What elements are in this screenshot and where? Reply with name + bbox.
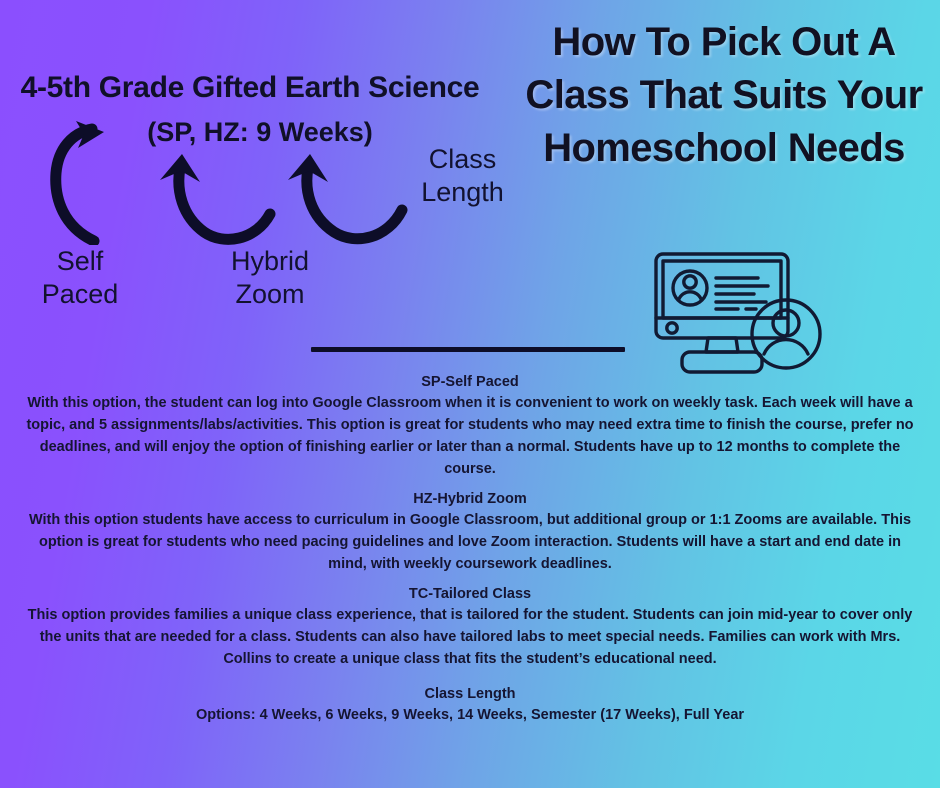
section-tailored-class: TC-Tailored Class This option provides f… xyxy=(0,586,940,670)
callout-hybrid-zoom: Hybrid Zoom xyxy=(200,245,340,311)
section-self-paced: SP-Self Paced With this option, the stud… xyxy=(0,374,940,480)
page-title: How To Pick Out A Class That Suits Your … xyxy=(520,16,928,176)
computer-user-icon xyxy=(650,248,830,380)
section-heading: Class Length xyxy=(0,686,940,702)
section-body: This option provides families a unique c… xyxy=(0,604,940,670)
section-heading: HZ-Hybrid Zoom xyxy=(0,491,940,507)
callout-class-length: Class Length xyxy=(395,143,530,209)
sections-container: SP-Self Paced With this option, the stud… xyxy=(0,374,940,737)
callout-self-paced: Self Paced xyxy=(15,245,145,311)
section-body: With this option, the student can log in… xyxy=(0,392,940,480)
course-title: 4-5th Grade Gifted Earth Science xyxy=(0,72,500,104)
section-body: Options: 4 Weeks, 6 Weeks, 9 Weeks, 14 W… xyxy=(0,704,940,726)
curved-arrow-up-icon xyxy=(278,152,410,250)
section-heading: TC-Tailored Class xyxy=(0,586,940,602)
section-hybrid-zoom: HZ-Hybrid Zoom With this option students… xyxy=(0,491,940,575)
curved-arrow-up-icon xyxy=(50,115,160,245)
curved-arrow-up-icon xyxy=(152,152,277,250)
section-heading: SP-Self Paced xyxy=(0,374,940,390)
section-body: With this option students have access to… xyxy=(0,509,940,575)
divider xyxy=(311,347,625,352)
section-class-length: Class Length Options: 4 Weeks, 6 Weeks, … xyxy=(0,686,940,726)
